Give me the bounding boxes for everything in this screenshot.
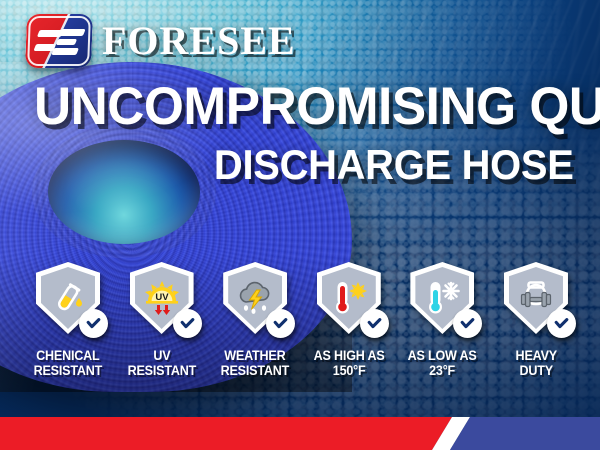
logo-stroke xyxy=(51,48,79,55)
feature-label: HEAVY DUTY xyxy=(515,348,556,378)
brand-wordmark: FORESEE xyxy=(102,21,296,61)
brand-header: FORESEE xyxy=(26,14,296,68)
foresee-logo-icon xyxy=(25,14,93,68)
shield-badge xyxy=(500,262,572,340)
check-icon xyxy=(453,309,482,338)
check-icon xyxy=(360,309,389,338)
feature-uv-resistant: UV UV RESISTANT xyxy=(116,262,208,378)
logo-stroke xyxy=(59,29,86,36)
feature-label: CHENICAL RESISTANT xyxy=(34,348,103,378)
headline-primary: UNCOMPROMISING QUALITY xyxy=(34,82,558,133)
headline-secondary: DISCHARGE HOSE xyxy=(214,144,574,186)
check-icon xyxy=(79,309,108,338)
shield-badge xyxy=(406,262,478,340)
feature-heavy-duty: HEAVY DUTY xyxy=(490,262,582,378)
feature-label: AS HIGH AS 150°F xyxy=(313,348,384,378)
feature-chemical-resistant: CHENICAL RESISTANT xyxy=(22,262,114,378)
shield-badge: UV xyxy=(126,262,198,340)
feature-label: AS LOW AS 23°F xyxy=(408,348,477,378)
feature-high-temperature: AS HIGH AS 150°F xyxy=(303,262,395,378)
feature-badge-row: CHENICAL RESISTANT xyxy=(22,262,582,378)
logo-stroke xyxy=(56,39,77,45)
check-icon xyxy=(266,309,295,338)
feature-label: UV RESISTANT xyxy=(127,348,196,378)
bottom-band xyxy=(0,417,600,450)
feature-label: WEATHER RESISTANT xyxy=(221,348,290,378)
check-icon xyxy=(547,309,576,338)
check-icon xyxy=(173,309,202,338)
shield-badge xyxy=(313,262,385,340)
shield-badge xyxy=(32,262,104,340)
feature-weather-resistant: WEATHER RESISTANT xyxy=(209,262,301,378)
feature-low-temperature: AS LOW AS 23°F xyxy=(396,262,488,378)
product-banner: FORESEE UNCOMPROMISING QUALITY DISCHARGE… xyxy=(0,0,600,450)
shield-badge xyxy=(219,262,291,340)
